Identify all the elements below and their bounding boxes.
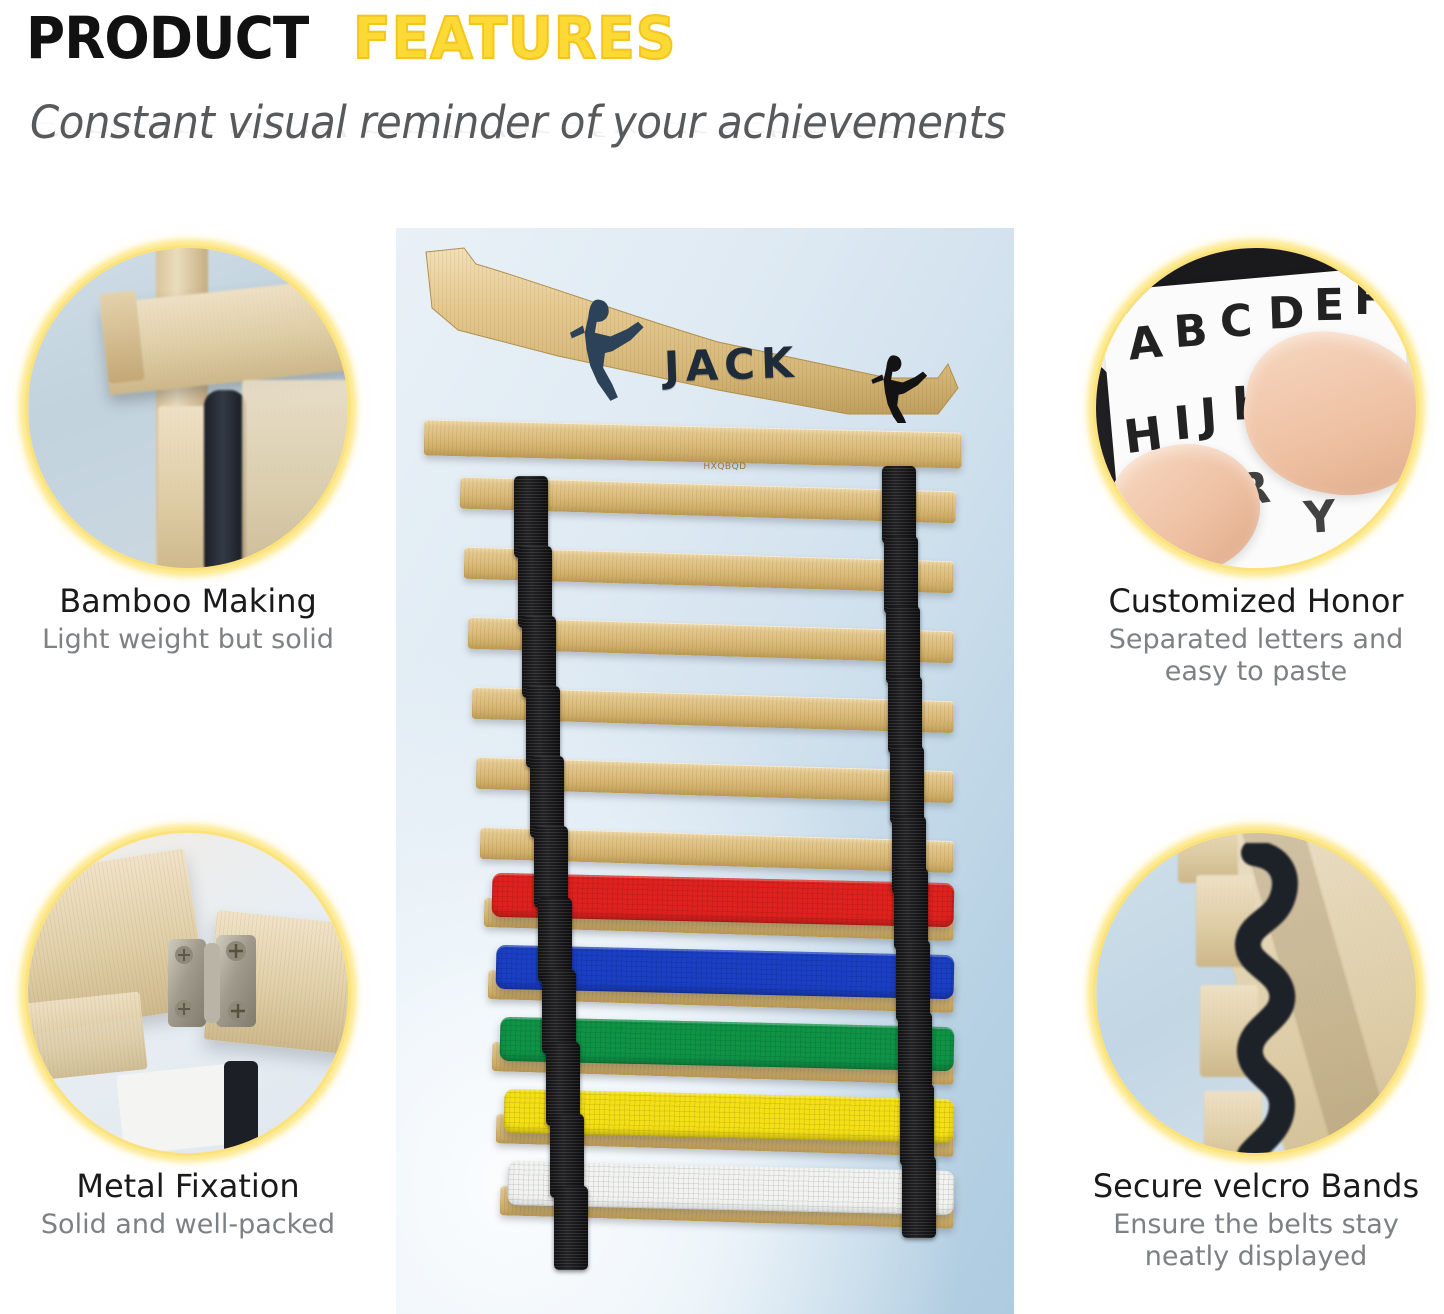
feature-title: Metal Fixation bbox=[8, 1167, 368, 1205]
feature-customized-honor: A B C D E F G H I J K L R Y bbox=[1076, 248, 1436, 688]
feature-subtitle: Ensure the belts stay neatly displayed bbox=[1076, 1209, 1436, 1273]
product-features-infographic: PRODUCT FEATURES Constant visual reminde… bbox=[0, 0, 1444, 1314]
scene bbox=[28, 248, 348, 568]
feature-secure-velcro-bands: Secure velcro Bands Ensure the belts sta… bbox=[1076, 833, 1436, 1273]
velcro-strap-right bbox=[902, 1156, 936, 1238]
velcro-band-icon bbox=[1224, 843, 1314, 1153]
scene bbox=[1096, 833, 1416, 1153]
sticker-letter: B bbox=[1172, 305, 1209, 358]
feature-title: Secure velcro Bands bbox=[1076, 1167, 1436, 1205]
feature-image-wrap: A B C D E F G H I J K L R Y bbox=[1096, 248, 1416, 568]
header: PRODUCT FEATURES Constant visual reminde… bbox=[0, 0, 1444, 170]
wood-piece-lower-left bbox=[28, 991, 148, 1084]
sticker-letter: C bbox=[1219, 295, 1254, 348]
velcro-strap-left bbox=[554, 1186, 588, 1270]
belt-display-rack: JACK HXQBQD bbox=[396, 228, 1014, 1314]
feature-image-wrap bbox=[28, 248, 348, 568]
feature-bamboo-making: Bamboo Making Light weight but solid bbox=[8, 248, 368, 656]
page-subtitle-reflection: Constant visual reminder of your achieve… bbox=[30, 118, 1006, 140]
sticker-letter: A bbox=[1125, 316, 1164, 370]
sticker-letter: J bbox=[1198, 387, 1219, 442]
sticker-letter: E bbox=[1314, 280, 1345, 332]
feature-subtitle-line2: neatly displayed bbox=[1076, 1241, 1436, 1273]
velcro-band bbox=[224, 1061, 258, 1153]
feature-subtitle: Solid and well-packed bbox=[8, 1209, 368, 1241]
title-product: PRODUCT bbox=[26, 4, 308, 72]
sticker-letter: D bbox=[1267, 287, 1305, 339]
scene bbox=[28, 833, 348, 1153]
scene: A B C D E F G H I J K L R Y bbox=[1096, 248, 1416, 568]
sticker-letter: G bbox=[1390, 270, 1416, 321]
metal-hinge-photo bbox=[28, 833, 348, 1153]
velcro-strap-right bbox=[896, 940, 930, 1022]
feature-subtitle-line1: Ensure the belts stay bbox=[1076, 1209, 1436, 1241]
velcro-band-photo bbox=[1096, 833, 1416, 1153]
feature-title: Bamboo Making bbox=[8, 582, 368, 620]
bamboo-slat-background bbox=[242, 380, 348, 568]
sticker-letter: F bbox=[1354, 274, 1384, 325]
feature-subtitle-line1: Separated letters and bbox=[1076, 624, 1436, 656]
top-name-board bbox=[418, 238, 978, 423]
letter-stickers-photo: A B C D E F G H I J K L R Y bbox=[1096, 248, 1416, 568]
velcro-band bbox=[204, 390, 246, 568]
velcro-strap-left bbox=[534, 826, 568, 908]
velcro-strap-right bbox=[882, 466, 916, 544]
product-photo: JACK HXQBQD bbox=[396, 228, 1014, 1314]
feature-metal-fixation: Metal Fixation Solid and well-packed bbox=[8, 833, 368, 1241]
feature-subtitle: Separated letters and easy to paste bbox=[1076, 624, 1436, 688]
feature-image-wrap bbox=[1096, 833, 1416, 1153]
sticker-letter: Y bbox=[1302, 491, 1337, 544]
velcro-strap-right bbox=[900, 1084, 934, 1166]
metal-hinge-icon bbox=[164, 933, 260, 1033]
name-sticker-jack: JACK bbox=[663, 338, 800, 392]
feature-title: Customized Honor bbox=[1076, 582, 1436, 620]
velcro-strap-right bbox=[890, 746, 924, 824]
velcro-strap-right bbox=[884, 536, 918, 614]
feature-subtitle: Light weight but solid bbox=[8, 624, 368, 656]
bamboo-slat-photo bbox=[28, 248, 348, 568]
title-features: FEATURES bbox=[353, 4, 676, 72]
velcro-strap-right bbox=[886, 606, 920, 684]
rack-slat-top bbox=[424, 419, 963, 468]
velcro-strap-right bbox=[888, 676, 922, 754]
page-title: PRODUCT FEATURES bbox=[26, 4, 693, 72]
feature-subtitle-line2: easy to paste bbox=[1076, 656, 1436, 688]
feature-image-wrap bbox=[28, 833, 348, 1153]
brand-mark: HXQBQD bbox=[696, 450, 754, 484]
velcro-strap-right bbox=[894, 868, 928, 950]
velcro-strap-right bbox=[898, 1012, 932, 1094]
